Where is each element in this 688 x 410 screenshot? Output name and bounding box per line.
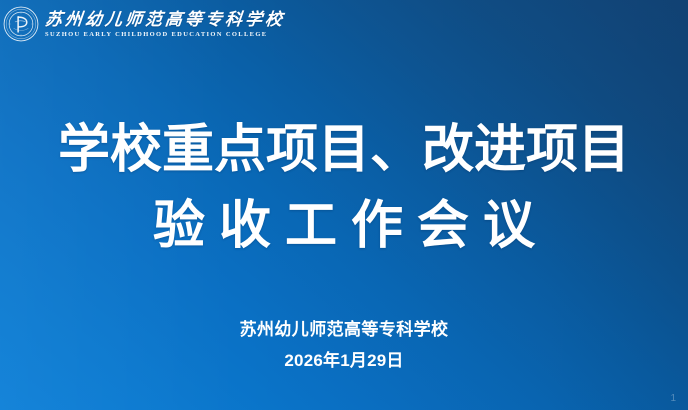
brand-name-english: SUZHOU EARLY CHILDHOOD EDUCATION COLLEGE <box>45 32 285 39</box>
page-number: 1 <box>670 393 676 404</box>
subtitle-date: 2026年1月29日 <box>0 348 688 373</box>
slide-title-line-2: 验收工作会议 <box>0 188 688 264</box>
slide-title-block: 学校重点项目、改进项目 验收工作会议 <box>0 112 688 264</box>
slide-title-line-1: 学校重点项目、改进项目 <box>0 112 688 188</box>
subtitle-organization: 苏州幼儿师范高等专科学校 <box>0 318 688 343</box>
university-seal-icon <box>3 6 39 42</box>
brand-text-group: 苏州幼儿师范高等专科学校 SUZHOU EARLY CHILDHOOD EDUC… <box>45 10 285 39</box>
brand-name-chinese: 苏州幼儿师范高等专科学校 <box>44 12 286 29</box>
brand-header: 苏州幼儿师范高等专科学校 SUZHOU EARLY CHILDHOOD EDUC… <box>3 6 285 42</box>
slide-subtitle-block: 苏州幼儿师范高等专科学校 2026年1月29日 <box>0 318 688 373</box>
presentation-slide: 苏州幼儿师范高等专科学校 SUZHOU EARLY CHILDHOOD EDUC… <box>0 0 688 410</box>
